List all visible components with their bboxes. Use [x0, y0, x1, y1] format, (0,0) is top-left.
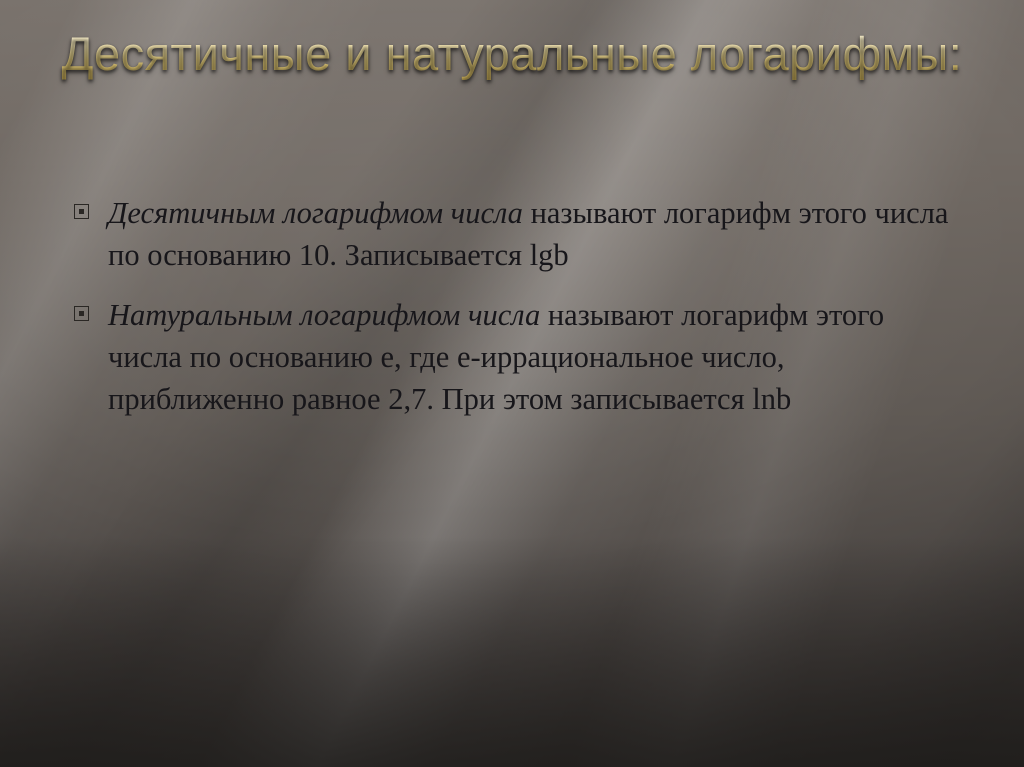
list-item-emphasis: Десятичным логарифмом числа — [108, 196, 523, 230]
list-item-text: Натуральным логарифмом числа называют ло… — [108, 294, 954, 420]
bullet-list: Десятичным логарифмом числа называют лог… — [74, 192, 954, 438]
slide-content: Десятичные и натуральные логарифмы: Деся… — [0, 0, 1024, 767]
list-item: Десятичным логарифмом числа называют лог… — [74, 192, 954, 276]
list-item-text: Десятичным логарифмом числа называют лог… — [108, 192, 954, 276]
presentation-slide: Десятичные и натуральные логарифмы: Деся… — [0, 0, 1024, 767]
list-item-emphasis: Натуральным логарифмом числа — [108, 298, 540, 332]
square-bullet-icon — [74, 192, 108, 219]
slide-title: Десятичные и натуральные логарифмы: — [60, 26, 964, 81]
square-bullet-icon — [74, 294, 108, 321]
list-item: Натуральным логарифмом числа называют ло… — [74, 294, 954, 420]
